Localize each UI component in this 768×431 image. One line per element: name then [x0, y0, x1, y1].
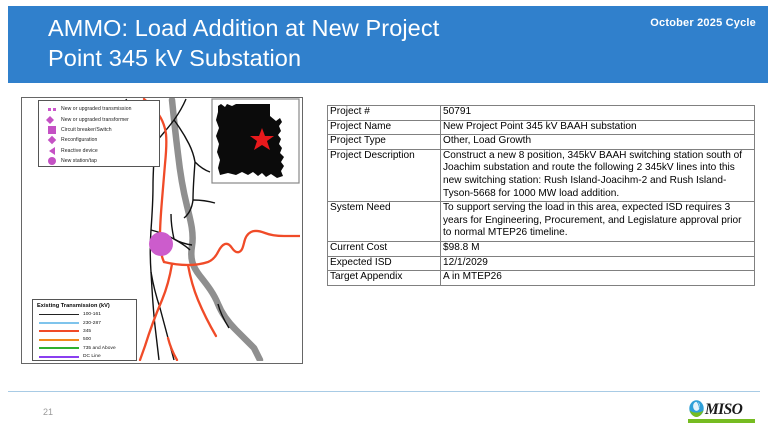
- square-breaker-icon: [43, 126, 61, 134]
- missouri-inset-map: [212, 99, 299, 183]
- row-label: Current Cost: [328, 241, 441, 256]
- miso-green-bar: [688, 419, 755, 423]
- line-swatch-100-161: [39, 314, 79, 315]
- legend-item: New station/tap: [43, 156, 157, 166]
- legend-item: Reconfiguration: [43, 135, 157, 145]
- line-swatch-dc: [39, 356, 79, 358]
- line-swatch-500: [39, 339, 79, 341]
- legend-item: Circuit breaker/Switch: [43, 125, 157, 135]
- row-label: Project Name: [328, 120, 441, 135]
- slide-header-bar: AMMO: Load Addition at New Project Point…: [8, 6, 768, 83]
- legend-item: New or upgraded transformer: [43, 114, 157, 124]
- voltage-legend-label: 230-287: [83, 321, 101, 326]
- voltage-legend-label: 100-161: [83, 312, 101, 317]
- voltage-legend-label: 500: [83, 337, 91, 342]
- table-row: Project # 50791: [328, 106, 755, 121]
- voltage-legend-item: DC Line: [37, 352, 133, 360]
- legend-item: New or upgraded transmission: [43, 104, 157, 114]
- table-row: Project Type Other, Load Growth: [328, 135, 755, 150]
- legend-label: New station/tap: [61, 158, 97, 164]
- miso-globe-icon: [688, 400, 705, 419]
- footer-divider: [8, 391, 760, 392]
- row-label: Project Description: [328, 149, 441, 201]
- row-value: 50791: [441, 106, 755, 121]
- cycle-label: October 2025 Cycle: [650, 17, 756, 29]
- table-row: Expected ISD 12/1/2029: [328, 256, 755, 271]
- row-label: Target Appendix: [328, 271, 441, 286]
- new-station-tap-marker: [149, 232, 173, 256]
- line-swatch-735: [39, 347, 79, 349]
- row-label: System Need: [328, 202, 441, 242]
- dashed-squares-icon: [43, 108, 61, 111]
- page-number: 21: [43, 407, 53, 417]
- voltage-legend-item: 500: [37, 336, 133, 344]
- voltage-legend-title: Existing Transmission (kV): [37, 303, 133, 309]
- line-swatch-230-287: [39, 322, 79, 324]
- row-value: A in MTEP26: [441, 271, 755, 286]
- voltage-legend-label: DC Line: [83, 354, 101, 359]
- legend-label: New or upgraded transmission: [61, 106, 131, 112]
- miso-logo: MISO: [688, 400, 755, 424]
- legend-label: New or upgraded transformer: [61, 117, 129, 123]
- miso-wordmark: MISO: [705, 401, 742, 419]
- table-row: System Need To support serving the load …: [328, 202, 755, 242]
- map-voltage-legend: Existing Transmission (kV) 100-161 230-2…: [32, 299, 137, 361]
- row-label: Project Type: [328, 135, 441, 150]
- row-value: $98.8 M: [441, 241, 755, 256]
- legend-label: Reconfiguration: [61, 137, 97, 143]
- project-detail-table: Project # 50791 Project Name New Project…: [327, 105, 755, 286]
- line-swatch-345: [39, 330, 79, 332]
- transmission-map-panel: New or upgraded transmission New or upgr…: [21, 97, 303, 364]
- row-value: New Project Point 345 kV BAAH substation: [441, 120, 755, 135]
- voltage-legend-item: 735 and Above: [37, 344, 133, 352]
- row-label: Project #: [328, 106, 441, 121]
- row-label: Expected ISD: [328, 256, 441, 271]
- legend-item: Reactive device: [43, 146, 157, 156]
- table-row: Project Description Construct a new 8 po…: [328, 149, 755, 201]
- triangle-reactive-device-icon: [43, 147, 61, 155]
- row-value: To support serving the load in this area…: [441, 202, 755, 242]
- voltage-legend-item: 345: [37, 327, 133, 335]
- legend-label: Circuit breaker/Switch: [61, 127, 112, 133]
- row-value: 12/1/2029: [441, 256, 755, 271]
- bowtie-transformer-icon: [43, 116, 61, 124]
- table-row: Target Appendix A in MTEP26: [328, 271, 755, 286]
- table-row: Current Cost $98.8 M: [328, 241, 755, 256]
- circle-new-station-icon: [43, 157, 61, 165]
- voltage-legend-label: 735 and Above: [83, 346, 116, 351]
- legend-label: Reactive device: [61, 148, 98, 154]
- voltage-legend-item: 230-287: [37, 319, 133, 327]
- map-symbol-legend: New or upgraded transmission New or upgr…: [38, 100, 160, 167]
- row-value: Other, Load Growth: [441, 135, 755, 150]
- table-row: Project Name New Project Point 345 kV BA…: [328, 120, 755, 135]
- voltage-legend-label: 345: [83, 329, 91, 334]
- row-value: Construct a new 8 position, 345kV BAAH s…: [441, 149, 755, 201]
- page-title: AMMO: Load Addition at New Project Point…: [48, 13, 608, 73]
- diamond-reconfiguration-icon: [43, 137, 61, 143]
- voltage-legend-item: 100-161: [37, 311, 133, 319]
